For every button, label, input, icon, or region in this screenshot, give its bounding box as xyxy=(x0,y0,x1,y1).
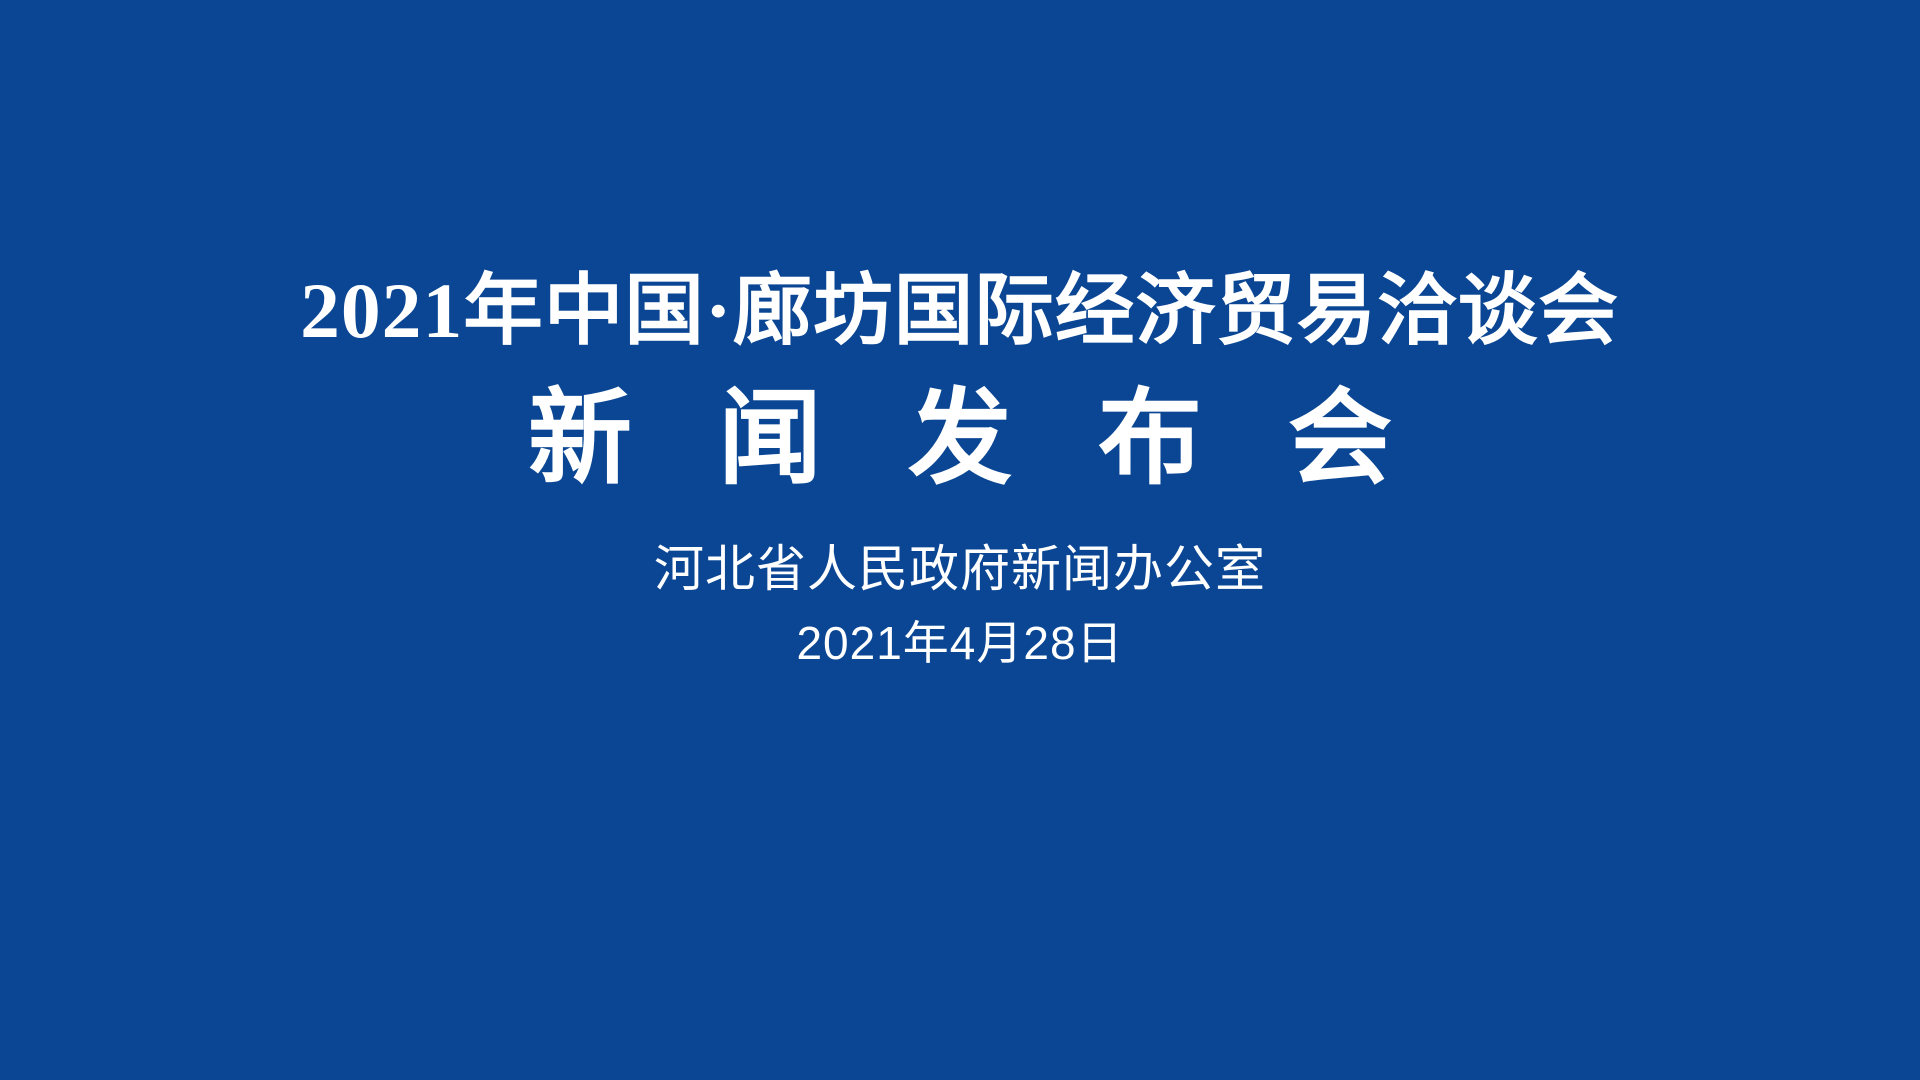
press-conference-backdrop: 2021年中国·廊坊国际经济贸易洽谈会 新 闻 发 布 会 河北省人民政府新闻办… xyxy=(0,0,1920,1080)
page-title: 新 闻 发 布 会 xyxy=(528,388,1422,492)
event-date: 2021年4月28日 xyxy=(796,620,1123,666)
event-title: 2021年中国·廊坊国际经济贸易洽谈会 xyxy=(301,272,1620,350)
backdrop-text-block: 2021年中国·廊坊国际经济贸易洽谈会 新 闻 发 布 会 河北省人民政府新闻办… xyxy=(0,0,1920,1080)
organizer-name: 河北省人民政府新闻办公室 xyxy=(654,544,1266,594)
